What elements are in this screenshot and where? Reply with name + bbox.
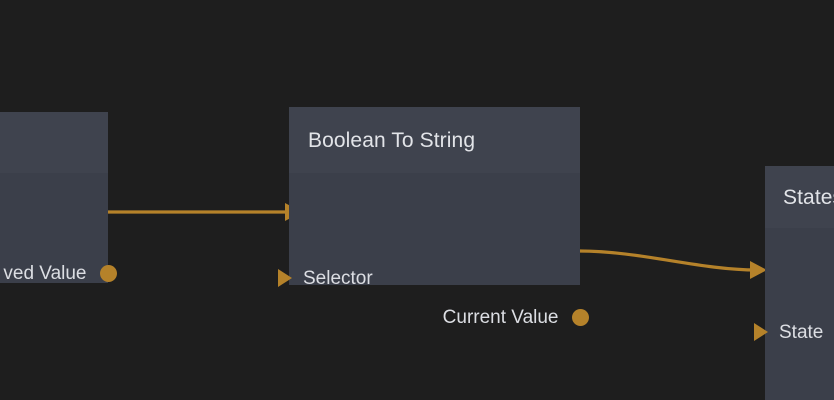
node-boolean-to-string[interactable]: Boolean To String Selector Current Value: [289, 107, 580, 285]
node-header[interactable]: Boolean To String: [289, 107, 580, 173]
node-received-value[interactable]: ved Value: [0, 112, 108, 283]
node-title: Boolean To String: [308, 130, 475, 151]
output-port-dot-icon[interactable]: [100, 265, 117, 282]
input-port-arrow-icon[interactable]: [754, 323, 768, 341]
node-graph-canvas[interactable]: ved Value Boolean To String Selector Cur…: [0, 0, 834, 400]
input-port-row-selector[interactable]: Selector: [278, 266, 373, 290]
output-port-row-current-value[interactable]: Current Value: [443, 305, 589, 329]
input-port-label: State: [779, 323, 823, 342]
output-port-dot-icon[interactable]: [572, 309, 589, 326]
node-body: State: [765, 228, 834, 400]
node-body: Selector Current Value: [289, 173, 580, 285]
input-port-arrow-icon[interactable]: [278, 269, 292, 287]
connection-curve: [580, 251, 757, 270]
connection-current-value-to-state[interactable]: [580, 251, 767, 279]
node-header[interactable]: [0, 112, 108, 173]
output-port-row[interactable]: ved Value: [3, 261, 116, 285]
node-states[interactable]: States State: [765, 166, 834, 400]
input-port-label: Selector: [303, 269, 373, 288]
connection-received-to-selector[interactable]: [108, 203, 302, 221]
node-title: States: [783, 187, 834, 208]
input-port-row-state[interactable]: State: [754, 320, 823, 344]
node-header[interactable]: States: [765, 166, 834, 228]
node-body: ved Value: [0, 173, 108, 283]
output-port-label: ved Value: [3, 264, 86, 283]
output-port-label: Current Value: [443, 308, 559, 327]
